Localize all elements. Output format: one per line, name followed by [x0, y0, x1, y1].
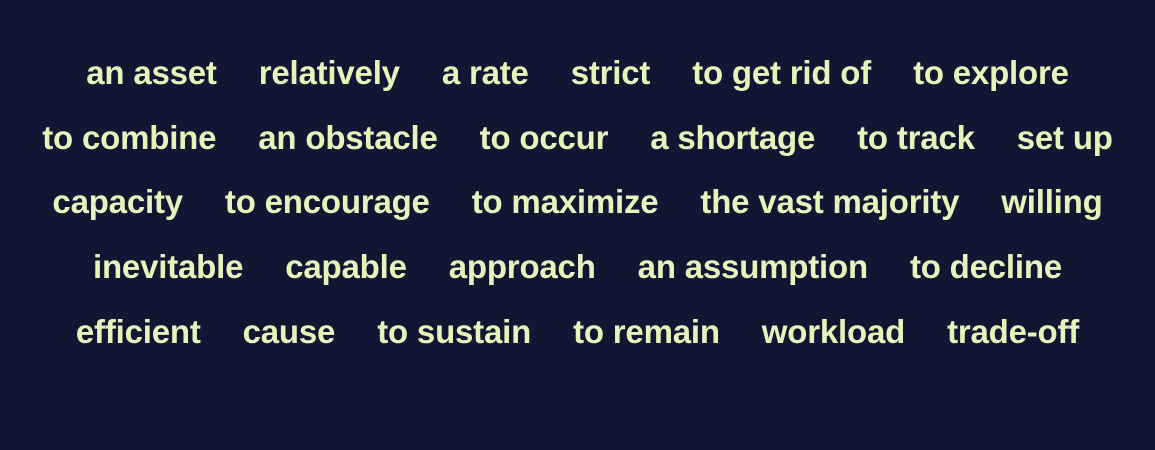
- word-item[interactable]: to maximize: [472, 185, 659, 218]
- word-item[interactable]: an asset: [86, 56, 216, 89]
- word-item[interactable]: to explore: [913, 56, 1069, 89]
- word-item[interactable]: cause: [243, 315, 336, 348]
- word-row: to combine an obstacle to occur a shorta…: [30, 121, 1125, 154]
- word-item[interactable]: inevitable: [93, 250, 243, 283]
- word-item[interactable]: efficient: [76, 315, 201, 348]
- word-item[interactable]: to combine: [42, 121, 216, 154]
- word-row: capacity to encourage to maximize the va…: [30, 185, 1125, 218]
- word-item[interactable]: trade-off: [947, 315, 1079, 348]
- word-row: efficient cause to sustain to remain wor…: [30, 315, 1125, 348]
- word-item[interactable]: to remain: [573, 315, 720, 348]
- word-item[interactable]: to track: [857, 121, 975, 154]
- word-item[interactable]: strict: [571, 56, 651, 89]
- word-item[interactable]: to occur: [480, 121, 609, 154]
- word-item[interactable]: a rate: [442, 56, 529, 89]
- word-item[interactable]: workload: [762, 315, 905, 348]
- word-item[interactable]: an obstacle: [258, 121, 437, 154]
- word-item[interactable]: to encourage: [225, 185, 430, 218]
- word-row: inevitable capable approach an assumptio…: [30, 250, 1125, 283]
- word-item[interactable]: the vast majority: [700, 185, 959, 218]
- word-item[interactable]: to sustain: [377, 315, 531, 348]
- word-item[interactable]: to decline: [910, 250, 1062, 283]
- word-item[interactable]: capable: [285, 250, 407, 283]
- word-item[interactable]: relatively: [259, 56, 400, 89]
- word-item[interactable]: approach: [449, 250, 596, 283]
- word-item[interactable]: set up: [1017, 121, 1113, 154]
- word-item[interactable]: a shortage: [650, 121, 815, 154]
- word-item[interactable]: willing: [1001, 185, 1102, 218]
- vocabulary-word-list: an asset relatively a rate strict to get…: [0, 0, 1155, 450]
- word-item[interactable]: capacity: [52, 185, 182, 218]
- word-item[interactable]: an assumption: [638, 250, 868, 283]
- word-row: an asset relatively a rate strict to get…: [30, 56, 1125, 89]
- word-item[interactable]: to get rid of: [692, 56, 871, 89]
